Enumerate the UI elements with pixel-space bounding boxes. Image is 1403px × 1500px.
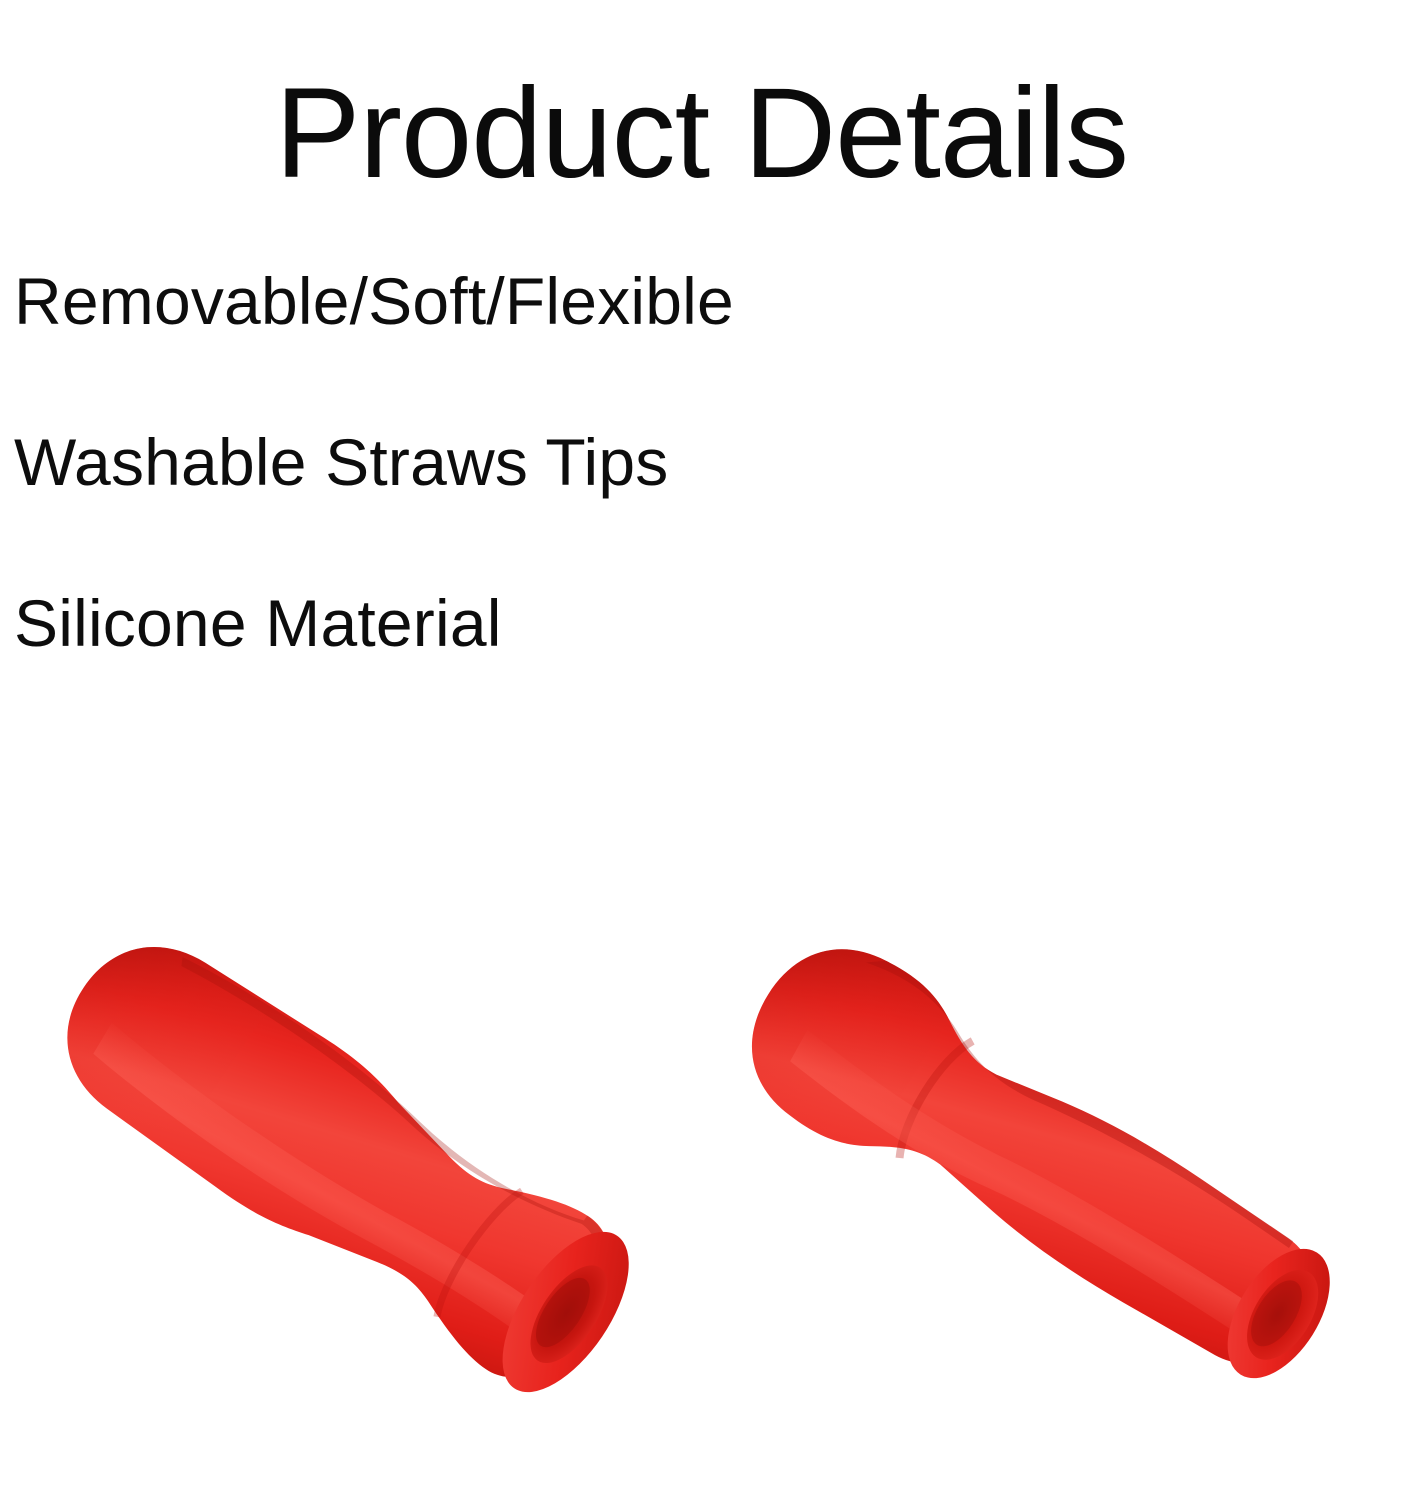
straw-tip-right-body-group [720, 916, 1361, 1412]
straw-tip-left [10, 860, 730, 1500]
feature-item-washable-straws-tips: Washable Straws Tips [14, 429, 1014, 495]
straw-tip-left-body-group [32, 910, 653, 1413]
straw-tip-right [720, 860, 1403, 1500]
feature-item-removable-soft-flexible: Removable/Soft/Flexible [14, 268, 1014, 334]
straw-tip-left-illustration [10, 860, 730, 1500]
product-details-page: Product Details Removable/Soft/Flexible … [0, 0, 1403, 1500]
product-photo [0, 860, 1403, 1500]
page-title: Product Details [0, 70, 1403, 198]
feature-list: Removable/Soft/Flexible Washable Straws … [14, 268, 1014, 656]
feature-item-silicone-material: Silicone Material [14, 590, 1014, 656]
straw-tip-right-illustration [720, 860, 1403, 1500]
